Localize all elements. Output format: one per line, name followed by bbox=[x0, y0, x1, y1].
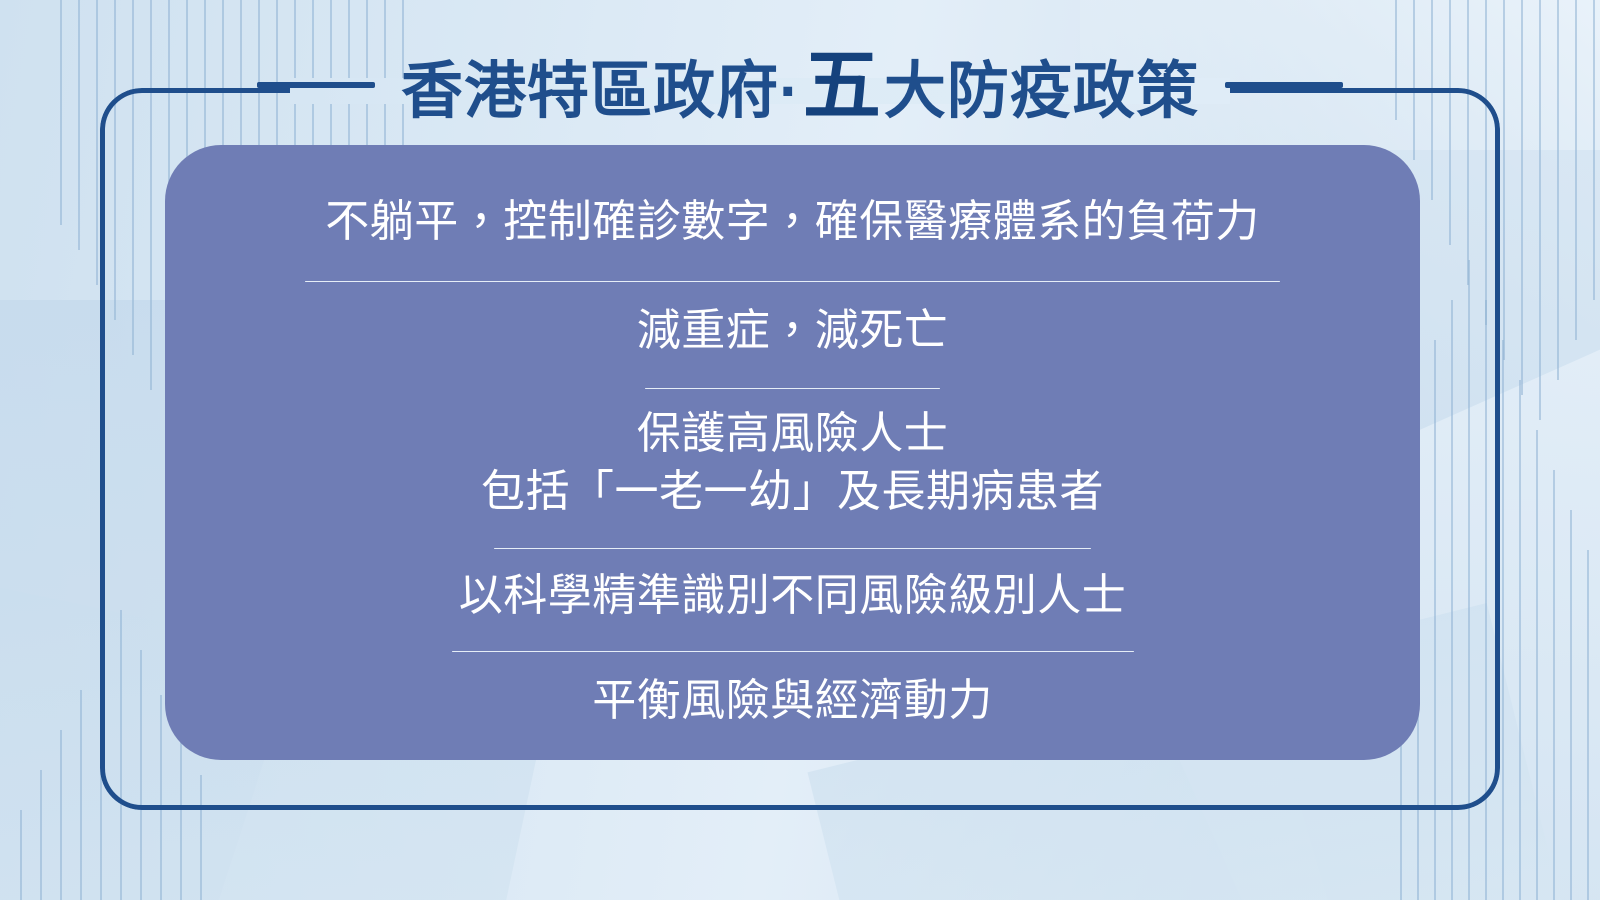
policy-3-line-1: 保護高風險人士 bbox=[481, 405, 1104, 463]
title-dash-left bbox=[257, 82, 375, 88]
policy-4-line-1: 以科學精準識別不同風險級別人士 bbox=[459, 567, 1127, 625]
policy-item-4: 以科學精準識別不同風險級別人士 bbox=[459, 567, 1127, 625]
title-accent-number: 五 bbox=[803, 46, 882, 124]
decorative-hairline bbox=[60, 730, 62, 900]
policy-divider-1 bbox=[305, 281, 1280, 282]
policy-divider-4 bbox=[452, 651, 1134, 652]
policy-1-line-1: 不躺平，控制確診數字，確保醫療體系的負荷力 bbox=[325, 193, 1260, 251]
policy-3-line-2: 包括「一老一幼」及長期病患者 bbox=[481, 463, 1104, 521]
policy-divider-2 bbox=[645, 388, 940, 389]
policy-2-line-1: 減重症，減死亡 bbox=[637, 302, 949, 360]
policy-item-1: 不躺平，控制確診數字，確保醫療體系的負荷力 bbox=[325, 193, 1260, 251]
decorative-hairline bbox=[1587, 550, 1589, 900]
decorative-hairline bbox=[1536, 430, 1538, 900]
decorative-hairline bbox=[1519, 380, 1521, 900]
decorative-hairline bbox=[1553, 470, 1555, 900]
title-suffix: 大防疫政策 bbox=[884, 61, 1199, 123]
policy-panel: 不躺平，控制確診數字，確保醫療體系的負荷力 減重症，減死亡 保護高風險人士 包括… bbox=[165, 145, 1420, 760]
policy-item-3: 保護高風險人士 包括「一老一幼」及長期病患者 bbox=[481, 405, 1104, 521]
infographic-canvas: 香港特區政府·五大防疫政策 不躺平，控制確診數字，確保醫療體系的負荷力 減重症，… bbox=[0, 0, 1600, 900]
title-text: 香港特區政府·五大防疫政策 bbox=[401, 46, 1199, 124]
decorative-hairline bbox=[20, 810, 22, 900]
policy-item-5: 平衡風險與經濟動力 bbox=[592, 672, 993, 730]
policy-divider-3 bbox=[494, 548, 1091, 549]
policy-item-2: 減重症，減死亡 bbox=[637, 302, 949, 360]
decorative-hairline bbox=[80, 690, 82, 900]
decorative-hairline bbox=[1570, 510, 1572, 900]
title-dash-right bbox=[1225, 82, 1343, 88]
decorative-hairline bbox=[40, 770, 42, 900]
decorative-hairline bbox=[1502, 340, 1504, 900]
title-prefix: 香港特區政府· bbox=[401, 61, 801, 123]
page-title: 香港特區政府·五大防疫政策 bbox=[0, 42, 1600, 128]
policy-5-line-1: 平衡風險與經濟動力 bbox=[592, 672, 993, 730]
